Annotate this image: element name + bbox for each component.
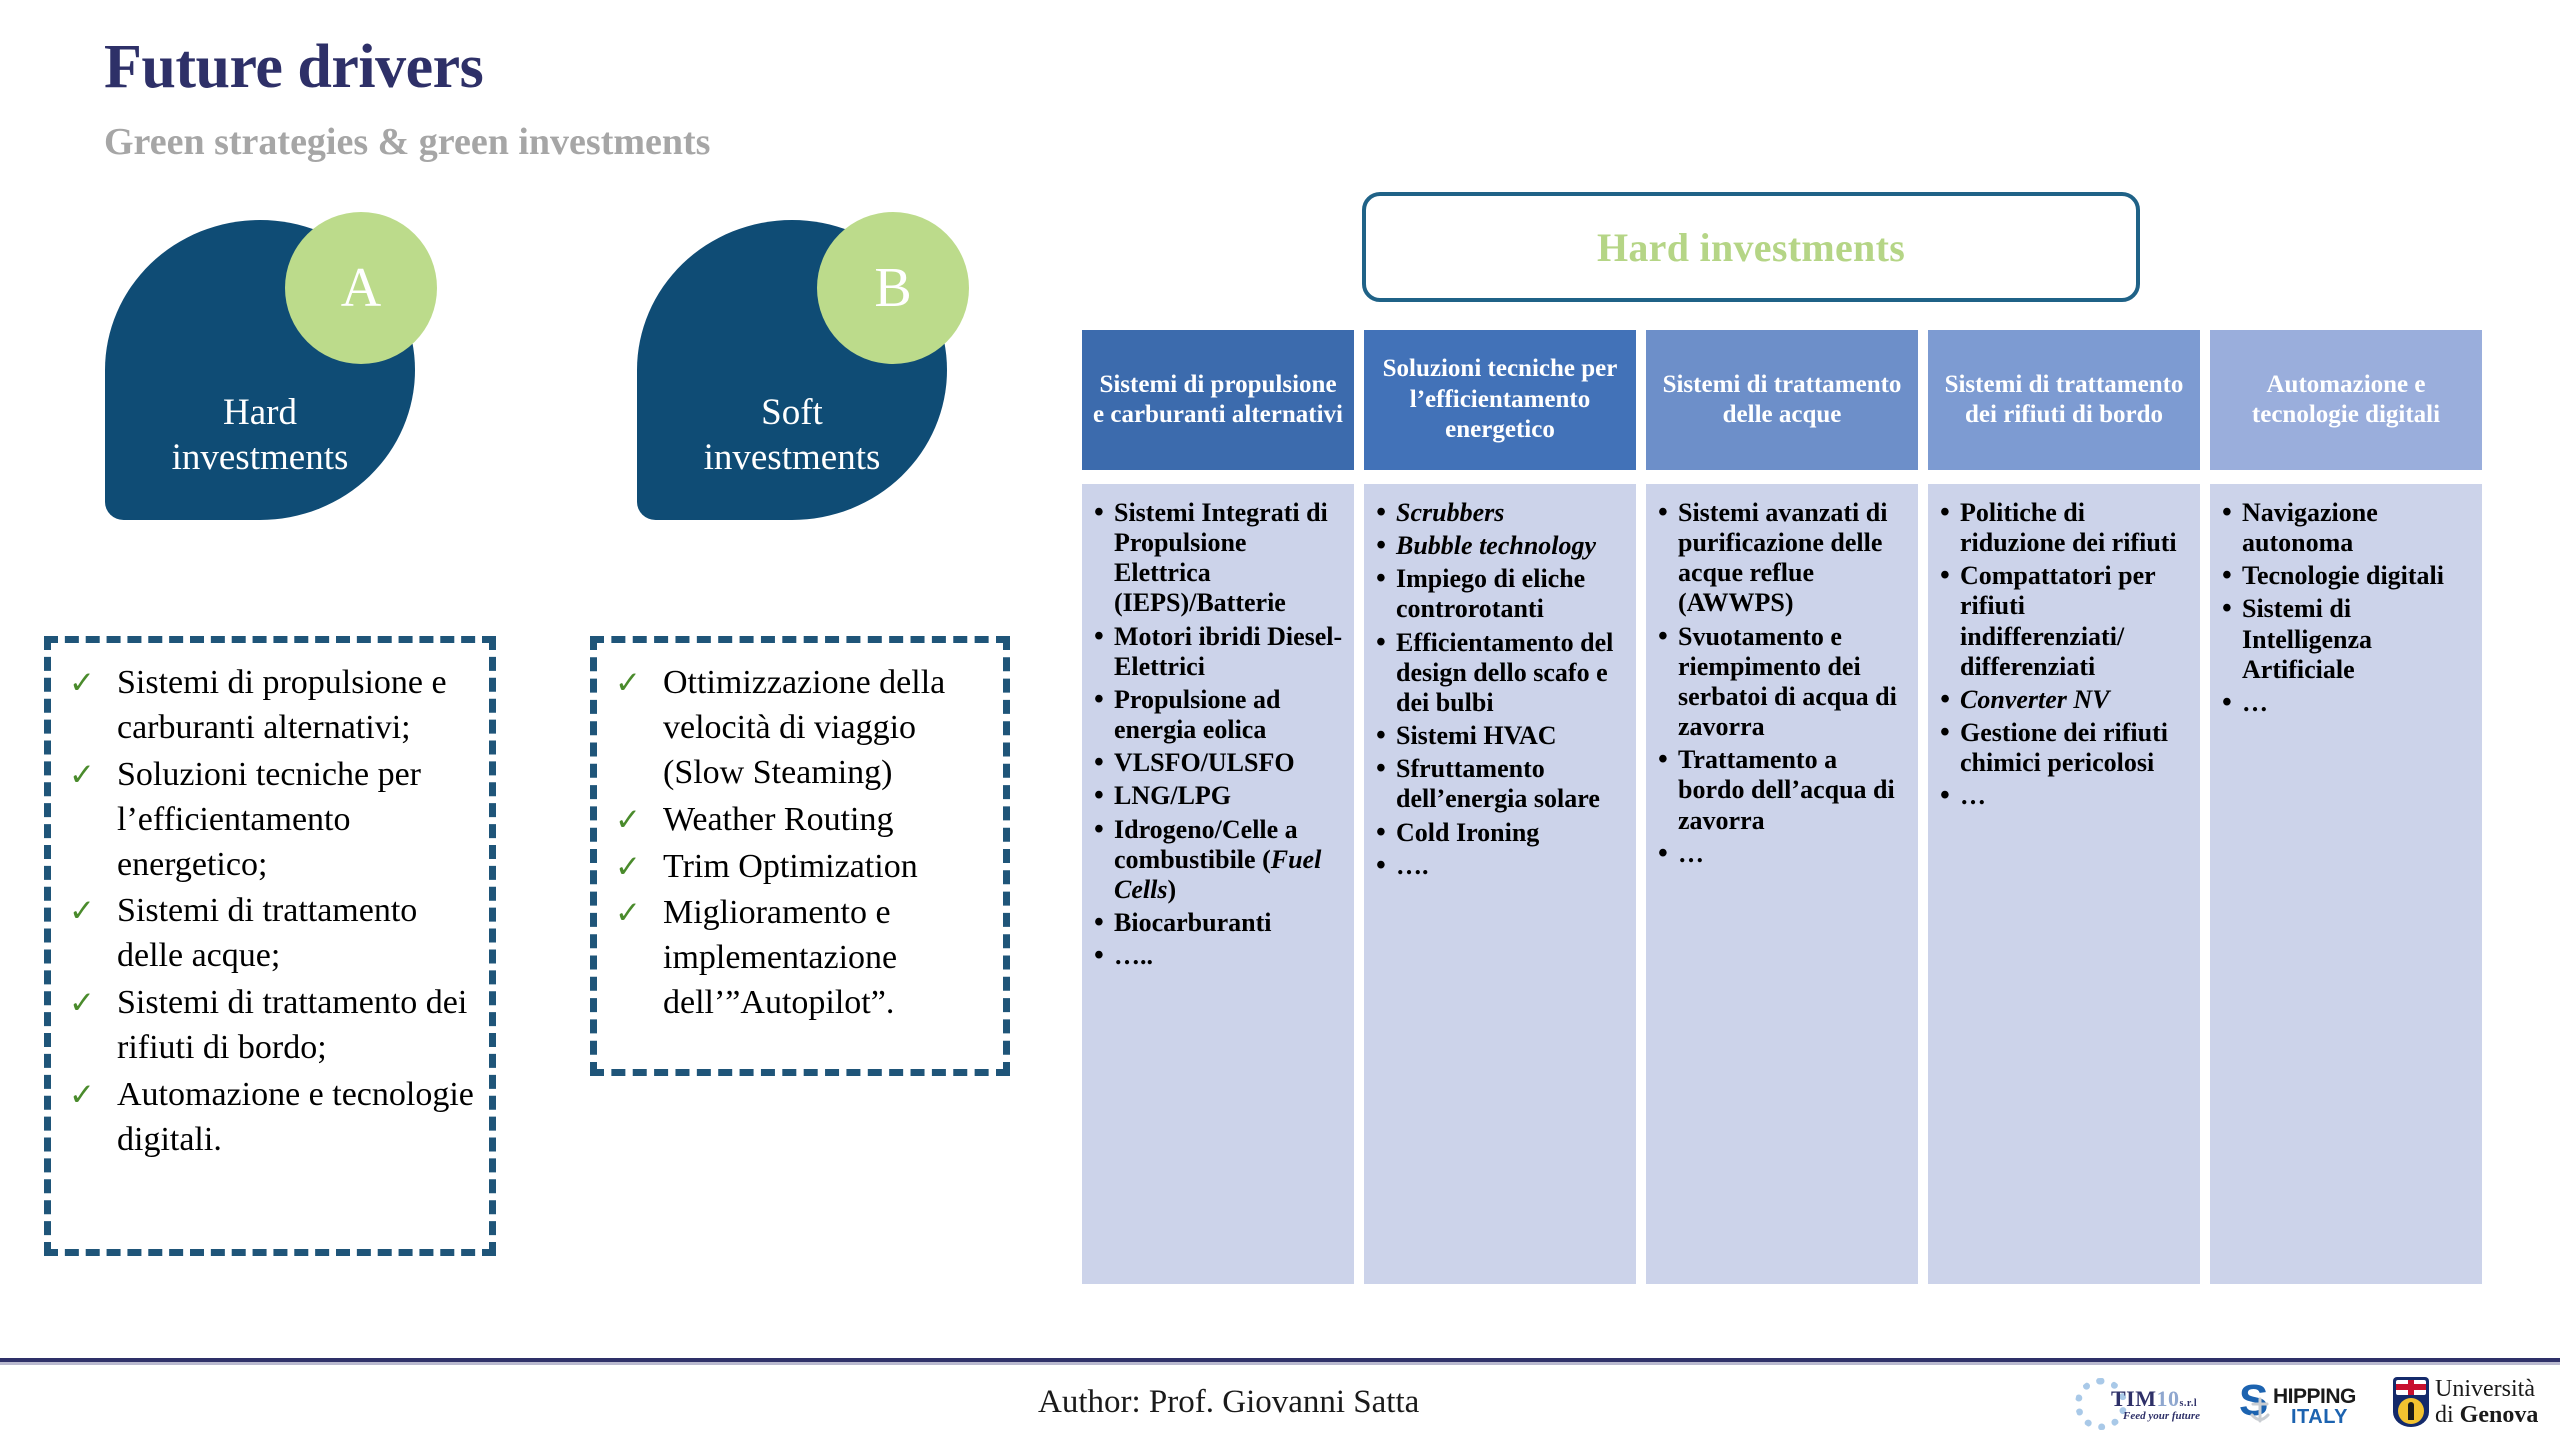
university-line2: di Genova xyxy=(2435,1402,2538,1428)
hard-investments-banner-label: Hard investments xyxy=(1597,224,1905,271)
column-bullet-item: …. xyxy=(1374,851,1626,881)
column-bullet-item: VLSFO/ULSFO xyxy=(1092,748,1344,778)
column-bullet-item: Trattamento a bordo dell’acqua di zavorr… xyxy=(1656,745,1908,835)
universita-genova-logo: Università di Genova xyxy=(2393,1376,2560,1432)
university-line1: Università xyxy=(2435,1376,2535,1402)
tim-tagline: Feed your future xyxy=(2123,1410,2200,1422)
check-icon: ✓ xyxy=(69,1073,117,1117)
check-icon: ✓ xyxy=(615,798,663,842)
column-bullet-item: Impiego di eliche controrotanti xyxy=(1374,564,1626,624)
column-body: Navigazione autonomaTecnologie digitaliS… xyxy=(2210,484,2482,1284)
investment-column: Sistemi di trattamento delle acqueSistem… xyxy=(1646,330,1918,1284)
investment-column: Sistemi di propulsione e carburanti alte… xyxy=(1082,330,1354,1284)
tim10-logo: TIM10s.r.l Feed your future xyxy=(2075,1376,2225,1432)
checklist-item: ✓Weather Routing xyxy=(615,798,989,843)
checklist-item: ✓Sistemi di trattamento delle acque; xyxy=(69,889,475,979)
column-bullet-item: Svuotamento e riempimento dei serbatoi d… xyxy=(1656,622,1908,743)
column-bullet-item: Sfruttamento dell’energia solare xyxy=(1374,754,1626,814)
column-bullet-item: Sistemi HVAC xyxy=(1374,721,1626,751)
column-header: Sistemi di trattamento delle acque xyxy=(1646,330,1918,470)
column-bullet-item: Sistemi Integrati di Propulsione Elettri… xyxy=(1092,498,1344,619)
investment-column: Sistemi di trattamento dei rifiuti di bo… xyxy=(1928,330,2200,1284)
checklist-item: ✓Sistemi di propulsione e carburanti alt… xyxy=(69,661,475,751)
bullet-italic-term: Fuel Cells xyxy=(1114,845,1321,904)
university-line2-bold: Genova xyxy=(2460,1402,2539,1428)
column-header: Automazione e tecnologie digitali xyxy=(2210,330,2482,470)
checklist-item: ✓Trim Optimization xyxy=(615,845,989,890)
droplet-badge-b: B xyxy=(817,212,969,364)
checklist-item-label: Soluzioni tecniche per l’efficientamento… xyxy=(117,753,475,888)
column-body: Sistemi avanzati di purificazione delle … xyxy=(1646,484,1918,1284)
column-body: Sistemi Integrati di Propulsione Elettri… xyxy=(1082,484,1354,1284)
checklist-item-label: Sistemi di trattamento delle acque; xyxy=(117,889,475,979)
column-bullet-item: Converter NV xyxy=(1938,685,2190,715)
hard-investments-banner: Hard investments xyxy=(1362,192,2140,302)
university-line2-light: di xyxy=(2435,1402,2460,1428)
check-icon: ✓ xyxy=(69,981,117,1025)
column-bullet-item: Navigazione autonoma xyxy=(2220,498,2472,558)
column-bullet-item: Scrubbers xyxy=(1374,498,1626,528)
check-icon: ✓ xyxy=(69,753,117,797)
tim-wordmark: TIM10s.r.l xyxy=(2111,1386,2197,1412)
column-bullet-item: Cold Ironing xyxy=(1374,818,1626,848)
column-bullet-list: Sistemi Integrati di Propulsione Elettri… xyxy=(1092,498,1344,971)
anchor-icon xyxy=(2247,1395,2273,1425)
column-bullet-list: ScrubbersBubble technologyImpiego di eli… xyxy=(1374,498,1626,881)
check-icon: ✓ xyxy=(615,661,663,705)
shipping-italy-logo: S HIPPING ITALY xyxy=(2239,1377,2379,1431)
column-bullet-item: Idrogeno/Celle a combustibile (Fuel Cell… xyxy=(1092,815,1344,905)
column-header-label: Sistemi di trattamento dei rifiuti di bo… xyxy=(1938,370,2190,431)
column-body: Politiche di riduzione dei rifiutiCompat… xyxy=(1928,484,2200,1284)
tim-suffix-text: s.r.l xyxy=(2180,1398,2198,1409)
column-bullet-item: Propulsione ad energia eolica xyxy=(1092,685,1344,745)
checklist-box-hard: ✓Sistemi di propulsione e carburanti alt… xyxy=(44,636,496,1256)
genova-crest-icon xyxy=(2393,1377,2429,1427)
checklist-box-soft: ✓Ottimizzazione della velocità di viaggi… xyxy=(590,636,1010,1076)
column-bullet-item: ….. xyxy=(1092,941,1344,971)
checklist-item-label: Trim Optimization xyxy=(663,845,989,890)
footer-divider xyxy=(0,1358,2560,1365)
check-icon: ✓ xyxy=(615,845,663,889)
column-bullet-list: Sistemi avanzati di purificazione delle … xyxy=(1656,498,1908,869)
checklist-item-label: Automazione e tecnologie digitali. xyxy=(117,1073,475,1163)
column-bullet-item: Bubble technology xyxy=(1374,531,1626,561)
column-header-label: Soluzioni tecniche per l’efficientamento… xyxy=(1374,354,1626,446)
checklist-item: ✓Soluzioni tecniche per l’efficientament… xyxy=(69,753,475,888)
column-bullet-item: … xyxy=(1656,839,1908,869)
checklist-item-label: Weather Routing xyxy=(663,798,989,843)
shipping-bottom-text: ITALY xyxy=(2291,1406,2348,1429)
investment-column: Soluzioni tecniche per l’efficientamento… xyxy=(1364,330,1636,1284)
column-header: Soluzioni tecniche per l’efficientamento… xyxy=(1364,330,1636,470)
tim-name-text: TIM xyxy=(2111,1386,2157,1411)
investment-columns: Sistemi di propulsione e carburanti alte… xyxy=(1082,330,2482,1300)
column-header-label: Sistemi di trattamento delle acque xyxy=(1656,370,1908,431)
column-header-label: Automazione e tecnologie digitali xyxy=(2220,370,2472,431)
column-header: Sistemi di propulsione e carburanti alte… xyxy=(1082,330,1354,470)
column-bullet-item: Sistemi avanzati di purificazione delle … xyxy=(1656,498,1908,619)
tim-number-text: 10 xyxy=(2157,1386,2180,1411)
droplet-group-a: A Hard investments xyxy=(105,220,465,540)
checklist-item-label: Sistemi di propulsione e carburanti alte… xyxy=(117,661,475,751)
column-bullet-item: … xyxy=(2220,688,2472,718)
column-bullet-item: Sistemi di Intelligenza Artificiale xyxy=(2220,594,2472,684)
check-icon: ✓ xyxy=(615,891,663,935)
column-bullet-item: LNG/LPG xyxy=(1092,781,1344,811)
page-subtitle: Green strategies & green investments xyxy=(104,122,710,164)
checklist-item: ✓Automazione e tecnologie digitali. xyxy=(69,1073,475,1163)
author-text: Author: Prof. Giovanni Satta xyxy=(1038,1384,1419,1421)
checklist-item-label: Miglioramento e implementazione dell’”Au… xyxy=(663,891,989,1026)
checklist-item-label: Sistemi di trattamento dei rifiuti di bo… xyxy=(117,981,475,1071)
droplet-badge-a: A xyxy=(285,212,437,364)
droplet-group-b: B Soft investments xyxy=(637,220,997,540)
page-title: Future drivers xyxy=(104,35,483,100)
slide: Future drivers Green strategies & green … xyxy=(0,0,2560,1440)
column-header-label: Sistemi di propulsione e carburanti alte… xyxy=(1092,370,1344,431)
check-icon: ✓ xyxy=(69,889,117,933)
column-bullet-item: Politiche di riduzione dei rifiuti xyxy=(1938,498,2190,558)
checklist-item: ✓Ottimizzazione della velocità di viaggi… xyxy=(615,661,989,796)
footer-logos: TIM10s.r.l Feed your future S HIPPING IT… xyxy=(2075,1374,2560,1434)
column-bullet-item: … xyxy=(1938,781,2190,811)
investment-column: Automazione e tecnologie digitaliNavigaz… xyxy=(2210,330,2482,1284)
column-header: Sistemi di trattamento dei rifiuti di bo… xyxy=(1928,330,2200,470)
checklist-item: ✓Miglioramento e implementazione dell’”A… xyxy=(615,891,989,1026)
checklist-hard: ✓Sistemi di propulsione e carburanti alt… xyxy=(51,643,489,1183)
checklist-item: ✓Sistemi di trattamento dei rifiuti di b… xyxy=(69,981,475,1071)
column-bullet-item: Motori ibridi Diesel-Elettrici xyxy=(1092,622,1344,682)
column-bullet-item: Biocarburanti xyxy=(1092,908,1344,938)
droplet-badge-letter-a: A xyxy=(341,260,381,316)
column-bullet-list: Politiche di riduzione dei rifiutiCompat… xyxy=(1938,498,2190,812)
droplet-badge-letter-b: B xyxy=(874,260,911,316)
column-bullet-item: Efficientamento del design dello scafo e… xyxy=(1374,628,1626,718)
checklist-soft: ✓Ottimizzazione della velocità di viaggi… xyxy=(597,643,1003,1046)
column-bullet-item: Gestione dei rifiuti chimici pericolosi xyxy=(1938,718,2190,778)
column-bullet-list: Navigazione autonomaTecnologie digitaliS… xyxy=(2220,498,2472,718)
column-bullet-item: Compattatori per rifiuti indifferenziati… xyxy=(1938,561,2190,682)
checklist-item-label: Ottimizzazione della velocità di viaggio… xyxy=(663,661,989,796)
check-icon: ✓ xyxy=(69,661,117,705)
column-bullet-item: Tecnologie digitali xyxy=(2220,561,2472,591)
column-body: ScrubbersBubble technologyImpiego di eli… xyxy=(1364,484,1636,1284)
